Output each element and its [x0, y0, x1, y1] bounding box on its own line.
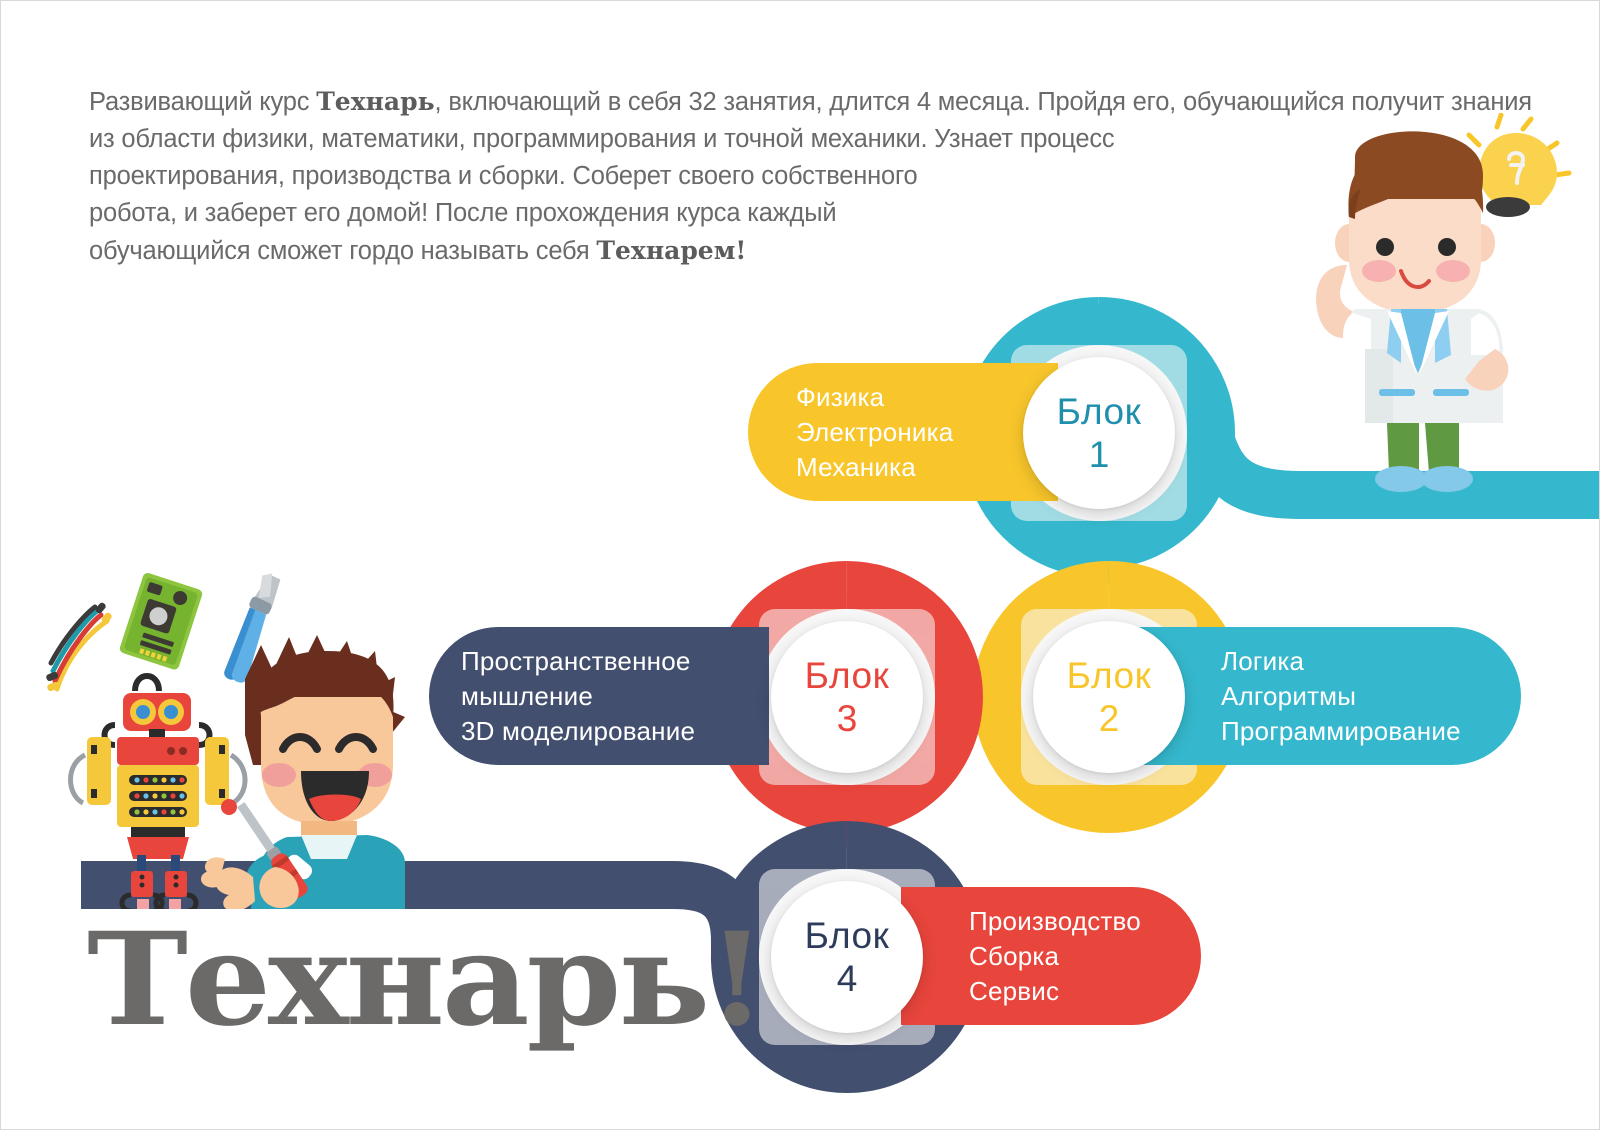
topics-pill-block-1[interactable]: Физика Электроника Механика — [748, 363, 1058, 501]
intro-brand-inline: Технарь — [316, 87, 434, 116]
topic-label: мышление — [461, 679, 769, 714]
block-node-1[interactable]: Блок 1 — [1023, 357, 1175, 509]
robot-buttons — [129, 775, 187, 817]
topic-label: 3D моделирование — [461, 714, 769, 749]
block-node-word: Блок — [805, 914, 890, 957]
block-node-number: 2 — [1099, 697, 1120, 741]
topics-pill-block-3[interactable]: Пространственное мышление 3D моделирован… — [429, 627, 769, 765]
block-node-word: Блок — [805, 654, 890, 697]
block-node-number: 1 — [1089, 433, 1110, 477]
boy-with-robot-illustration — [39, 559, 409, 909]
topic-label: Сборка — [969, 939, 1201, 974]
topic-label: Сервис — [969, 974, 1201, 1009]
block-node-4[interactable]: Блок 4 — [771, 881, 923, 1033]
block-node-word: Блок — [1067, 654, 1152, 697]
topic-label: Физика — [796, 380, 1058, 415]
intro-text-a: Развивающий курс — [89, 88, 316, 116]
topic-label: Алгоритмы — [1221, 679, 1521, 714]
topics-pill-block-2[interactable]: Логика Алгоритмы Программирование — [1131, 627, 1521, 765]
topic-label: Производство — [969, 904, 1201, 939]
block-node-3[interactable]: Блок 3 — [771, 621, 923, 773]
topic-label: Логика — [1221, 644, 1521, 679]
intro-text-c: , включающий в себя 32 занятия, длится 4… — [435, 88, 1532, 116]
block-node-number: 3 — [837, 697, 858, 741]
block-node-number: 4 — [837, 957, 858, 1001]
topic-label: Электроника — [796, 415, 1058, 450]
block-node-word: Блок — [1057, 390, 1142, 433]
topic-label: Механика — [796, 450, 1058, 485]
circuit-board-icon — [119, 572, 204, 671]
infographic-poster: Развивающий курс Технарь, включающий в с… — [0, 0, 1600, 1130]
brand-wordmark: Технарь! — [87, 916, 763, 1044]
intro-line-2: из области физики, математики, программи… — [89, 121, 1549, 158]
intro-line-4: робота, и заберет его домой! После прохо… — [89, 195, 1549, 232]
topics-pill-block-4[interactable]: Производство Сборка Сервис — [901, 887, 1201, 1025]
topic-label: Программирование — [1221, 714, 1521, 749]
intro-text-e: обучающийся сможет гордо называть себя — [89, 237, 596, 265]
intro-line-1: Развивающий курс Технарь, включающий в с… — [89, 83, 1549, 121]
block-node-2[interactable]: Блок 2 — [1033, 621, 1185, 773]
topic-label: Пространственное — [461, 644, 769, 679]
intro-paragraph: Развивающий курс Технарь, включающий в с… — [89, 83, 1549, 270]
intro-line-5: обучающийся сможет гордо называть себя Т… — [89, 232, 1549, 270]
wires-icon — [51, 607, 107, 689]
intro-brand-inline-2: Технарем! — [596, 236, 746, 265]
intro-line-3: проектирования, производства и сборки. С… — [89, 158, 1549, 195]
